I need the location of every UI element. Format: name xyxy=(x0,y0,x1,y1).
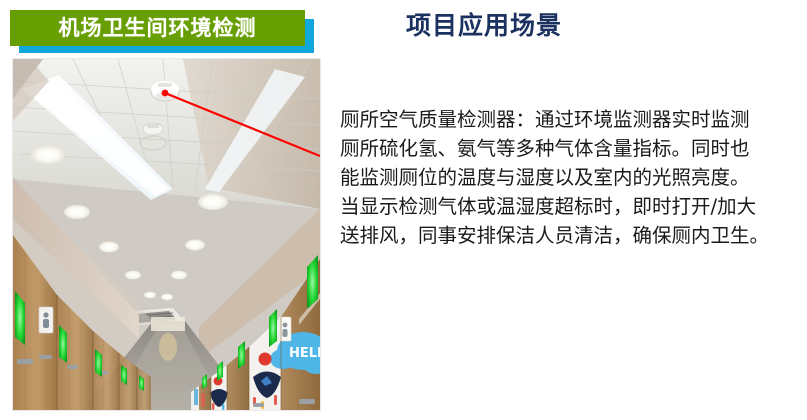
ceiling-lamp xyxy=(171,271,187,280)
ceiling-lamp xyxy=(198,194,228,210)
description-line: 能监测厕位的温度与湿度以及室内的光照亮度。 xyxy=(340,163,800,192)
ceiling-lamp xyxy=(144,292,156,299)
description-paragraph: 厕所空气质量检测器：通过环境监测器实时监测 厕所硫化氢、氨气等多种气体含量指标。… xyxy=(340,105,800,250)
title-badge: 机场卫生间环境检测 xyxy=(10,10,314,53)
description-line: 送排风，同事安排保洁人员清洁，确保厕内卫生。 xyxy=(340,221,800,250)
description-line: 厕所硫化氢、氨气等多种气体含量指标。同时也 xyxy=(340,134,800,163)
ceiling-lamp xyxy=(161,294,173,301)
title-badge-label: 机场卫生间环境检测 xyxy=(59,18,257,39)
description-line: 当显示检测气体或温湿度超标时，即时打开/加大 xyxy=(340,192,800,221)
ceiling-lamp xyxy=(185,240,205,251)
page-title: 项目应用场景 xyxy=(406,11,562,41)
ceiling-lamp xyxy=(99,242,119,253)
ceiling-lamp xyxy=(125,271,141,280)
restroom-corridor-photo: HELLO xyxy=(13,59,320,410)
ceiling-lamp xyxy=(64,205,90,219)
description-line: 厕所空气质量检测器：通过环境监测器实时监测 xyxy=(340,105,800,134)
title-badge-fill: 机场卫生间环境检测 xyxy=(10,10,305,46)
svg-text:HELLO: HELLO xyxy=(289,346,320,361)
photo-scene: HELLO xyxy=(13,59,320,410)
ceiling-lamp xyxy=(31,146,65,164)
